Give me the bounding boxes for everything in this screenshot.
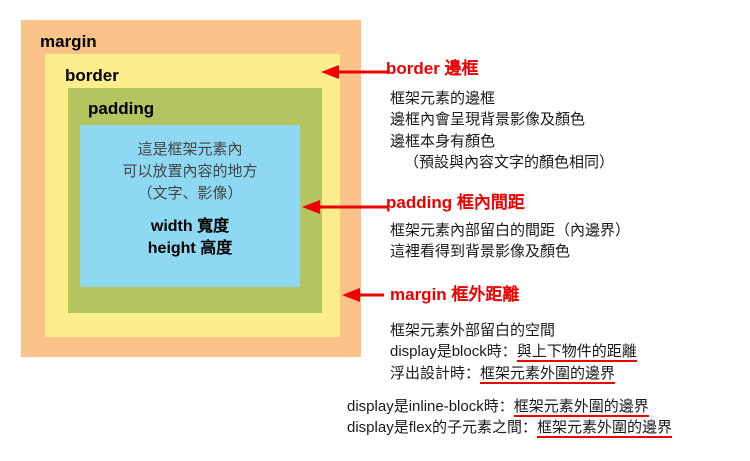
border-annotation-line-4: （預設與內容文字的顏色相同） bbox=[390, 152, 614, 173]
border-annotation-line-1: 框架元素的邊框 bbox=[390, 88, 614, 109]
padding-annotation-body: 框架元素內部留白的間距（內邊界） 這裡看得到背景影像及顏色 bbox=[390, 220, 630, 263]
content-text-line-3: （文字、影像） bbox=[137, 183, 242, 205]
padding-layer: padding 這是框架元素內 可以放置內容的地方 （文字、影像） width … bbox=[68, 88, 322, 313]
footer-inline-block-line: display是inline-block時：框架元素外圍的邊界 bbox=[347, 396, 672, 417]
content-height-label: height 高度 bbox=[148, 238, 232, 260]
padding-layer-label: padding bbox=[88, 100, 154, 117]
footer-flex-prefix: display是flex的子元素之間： bbox=[347, 419, 537, 436]
border-annotation-heading: border 邊框 bbox=[386, 60, 479, 77]
margin-pointer-arrow bbox=[342, 288, 384, 302]
content-width-label: width 寬度 bbox=[151, 216, 229, 238]
margin-block-underlined: 與上下物件的距離 bbox=[517, 343, 637, 362]
margin-annotation-block-line: display是block時：與上下物件的距離 bbox=[390, 341, 637, 362]
padding-annotation-line-2: 這裡看得到背景影像及顏色 bbox=[390, 241, 630, 262]
margin-layer-label: margin bbox=[40, 33, 97, 50]
content-text-line-1: 這是框架元素內 bbox=[137, 139, 242, 161]
content-layer: 這是框架元素內 可以放置內容的地方 （文字、影像） width 寬度 heigh… bbox=[80, 125, 300, 287]
border-annotation-line-3: 邊框本身有顏色 bbox=[390, 131, 614, 152]
margin-annotation-float-line: 浮出設計時：框架元素外圍的邊界 bbox=[390, 363, 637, 384]
padding-annotation-heading: padding 框內間距 bbox=[386, 194, 525, 211]
margin-annotation-heading: margin 框外距離 bbox=[390, 286, 519, 303]
footer-notes: display是inline-block時：框架元素外圍的邊界 display是… bbox=[347, 396, 672, 439]
margin-float-underlined: 框架元素外圍的邊界 bbox=[480, 365, 615, 384]
footer-flex-line: display是flex的子元素之間：框架元素外圍的邊界 bbox=[347, 417, 672, 438]
footer-inline-block-underlined: 框架元素外圍的邊界 bbox=[514, 398, 649, 417]
footer-inline-block-prefix: display是inline-block時： bbox=[347, 398, 514, 415]
margin-annotation-line-1: 框架元素外部留白的空間 bbox=[390, 320, 637, 341]
border-annotation-line-2: 邊框內會呈現背景影像及顏色 bbox=[390, 109, 614, 130]
margin-annotation-body: 框架元素外部留白的空間 display是block時：與上下物件的距離 浮出設計… bbox=[390, 320, 637, 384]
footer-flex-underlined: 框架元素外圍的邊界 bbox=[537, 419, 672, 438]
padding-pointer-arrow bbox=[302, 200, 389, 214]
padding-annotation-line-1: 框架元素內部留白的間距（內邊界） bbox=[390, 220, 630, 241]
border-pointer-arrow bbox=[321, 65, 389, 79]
box-model-diagram: margin border padding 這是框架元素內 可以放置內容的地方 … bbox=[21, 20, 361, 357]
border-layer: border padding 這是框架元素內 可以放置內容的地方 （文字、影像）… bbox=[45, 54, 340, 337]
content-text-line-2: 可以放置內容的地方 bbox=[122, 161, 257, 183]
margin-block-prefix: display是block時： bbox=[390, 343, 517, 360]
margin-layer: margin border padding 這是框架元素內 可以放置內容的地方 … bbox=[21, 20, 361, 357]
margin-float-prefix: 浮出設計時： bbox=[390, 365, 480, 382]
border-layer-label: border bbox=[65, 67, 119, 84]
border-annotation-body: 框架元素的邊框 邊框內會呈現背景影像及顏色 邊框本身有顏色 （預設與內容文字的顏… bbox=[390, 88, 614, 173]
